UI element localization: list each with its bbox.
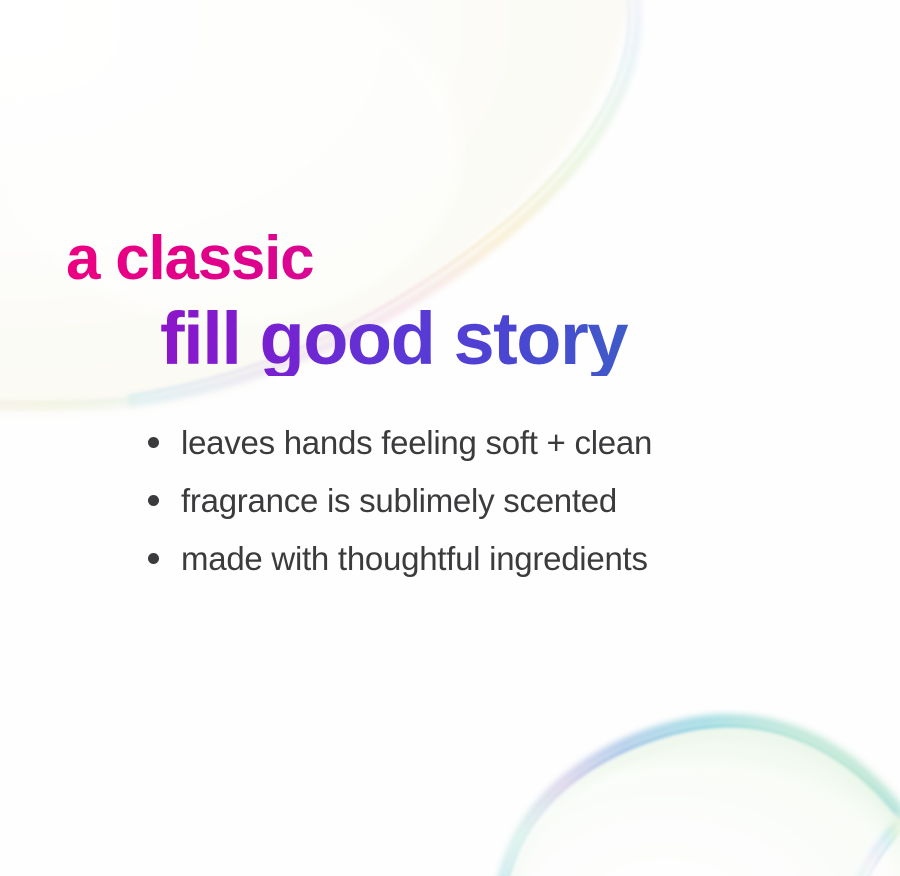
list-item-label: fragrance is sublimely scented bbox=[181, 482, 617, 520]
bullet-dot-icon bbox=[148, 437, 159, 448]
list-item: made with thoughtful ingredients bbox=[148, 540, 652, 598]
headline-line-2: fill good story bbox=[160, 302, 900, 376]
list-item: leaves hands feeling soft + clean bbox=[148, 424, 652, 482]
list-item: fragrance is sublimely scented bbox=[148, 482, 652, 540]
promo-graphic: a classic fill good story leaves hands f… bbox=[0, 0, 900, 876]
bullet-dot-icon bbox=[148, 553, 159, 564]
headline-line-1: a classic bbox=[66, 228, 900, 290]
benefits-list: leaves hands feeling soft + clean fragra… bbox=[148, 424, 652, 598]
list-item-label: made with thoughtful ingredients bbox=[181, 540, 648, 578]
headline: a classic fill good story bbox=[0, 228, 900, 376]
bottom-right-bubble bbox=[496, 718, 900, 876]
list-item-label: leaves hands feeling soft + clean bbox=[181, 424, 652, 462]
bullet-dot-icon bbox=[148, 495, 159, 506]
